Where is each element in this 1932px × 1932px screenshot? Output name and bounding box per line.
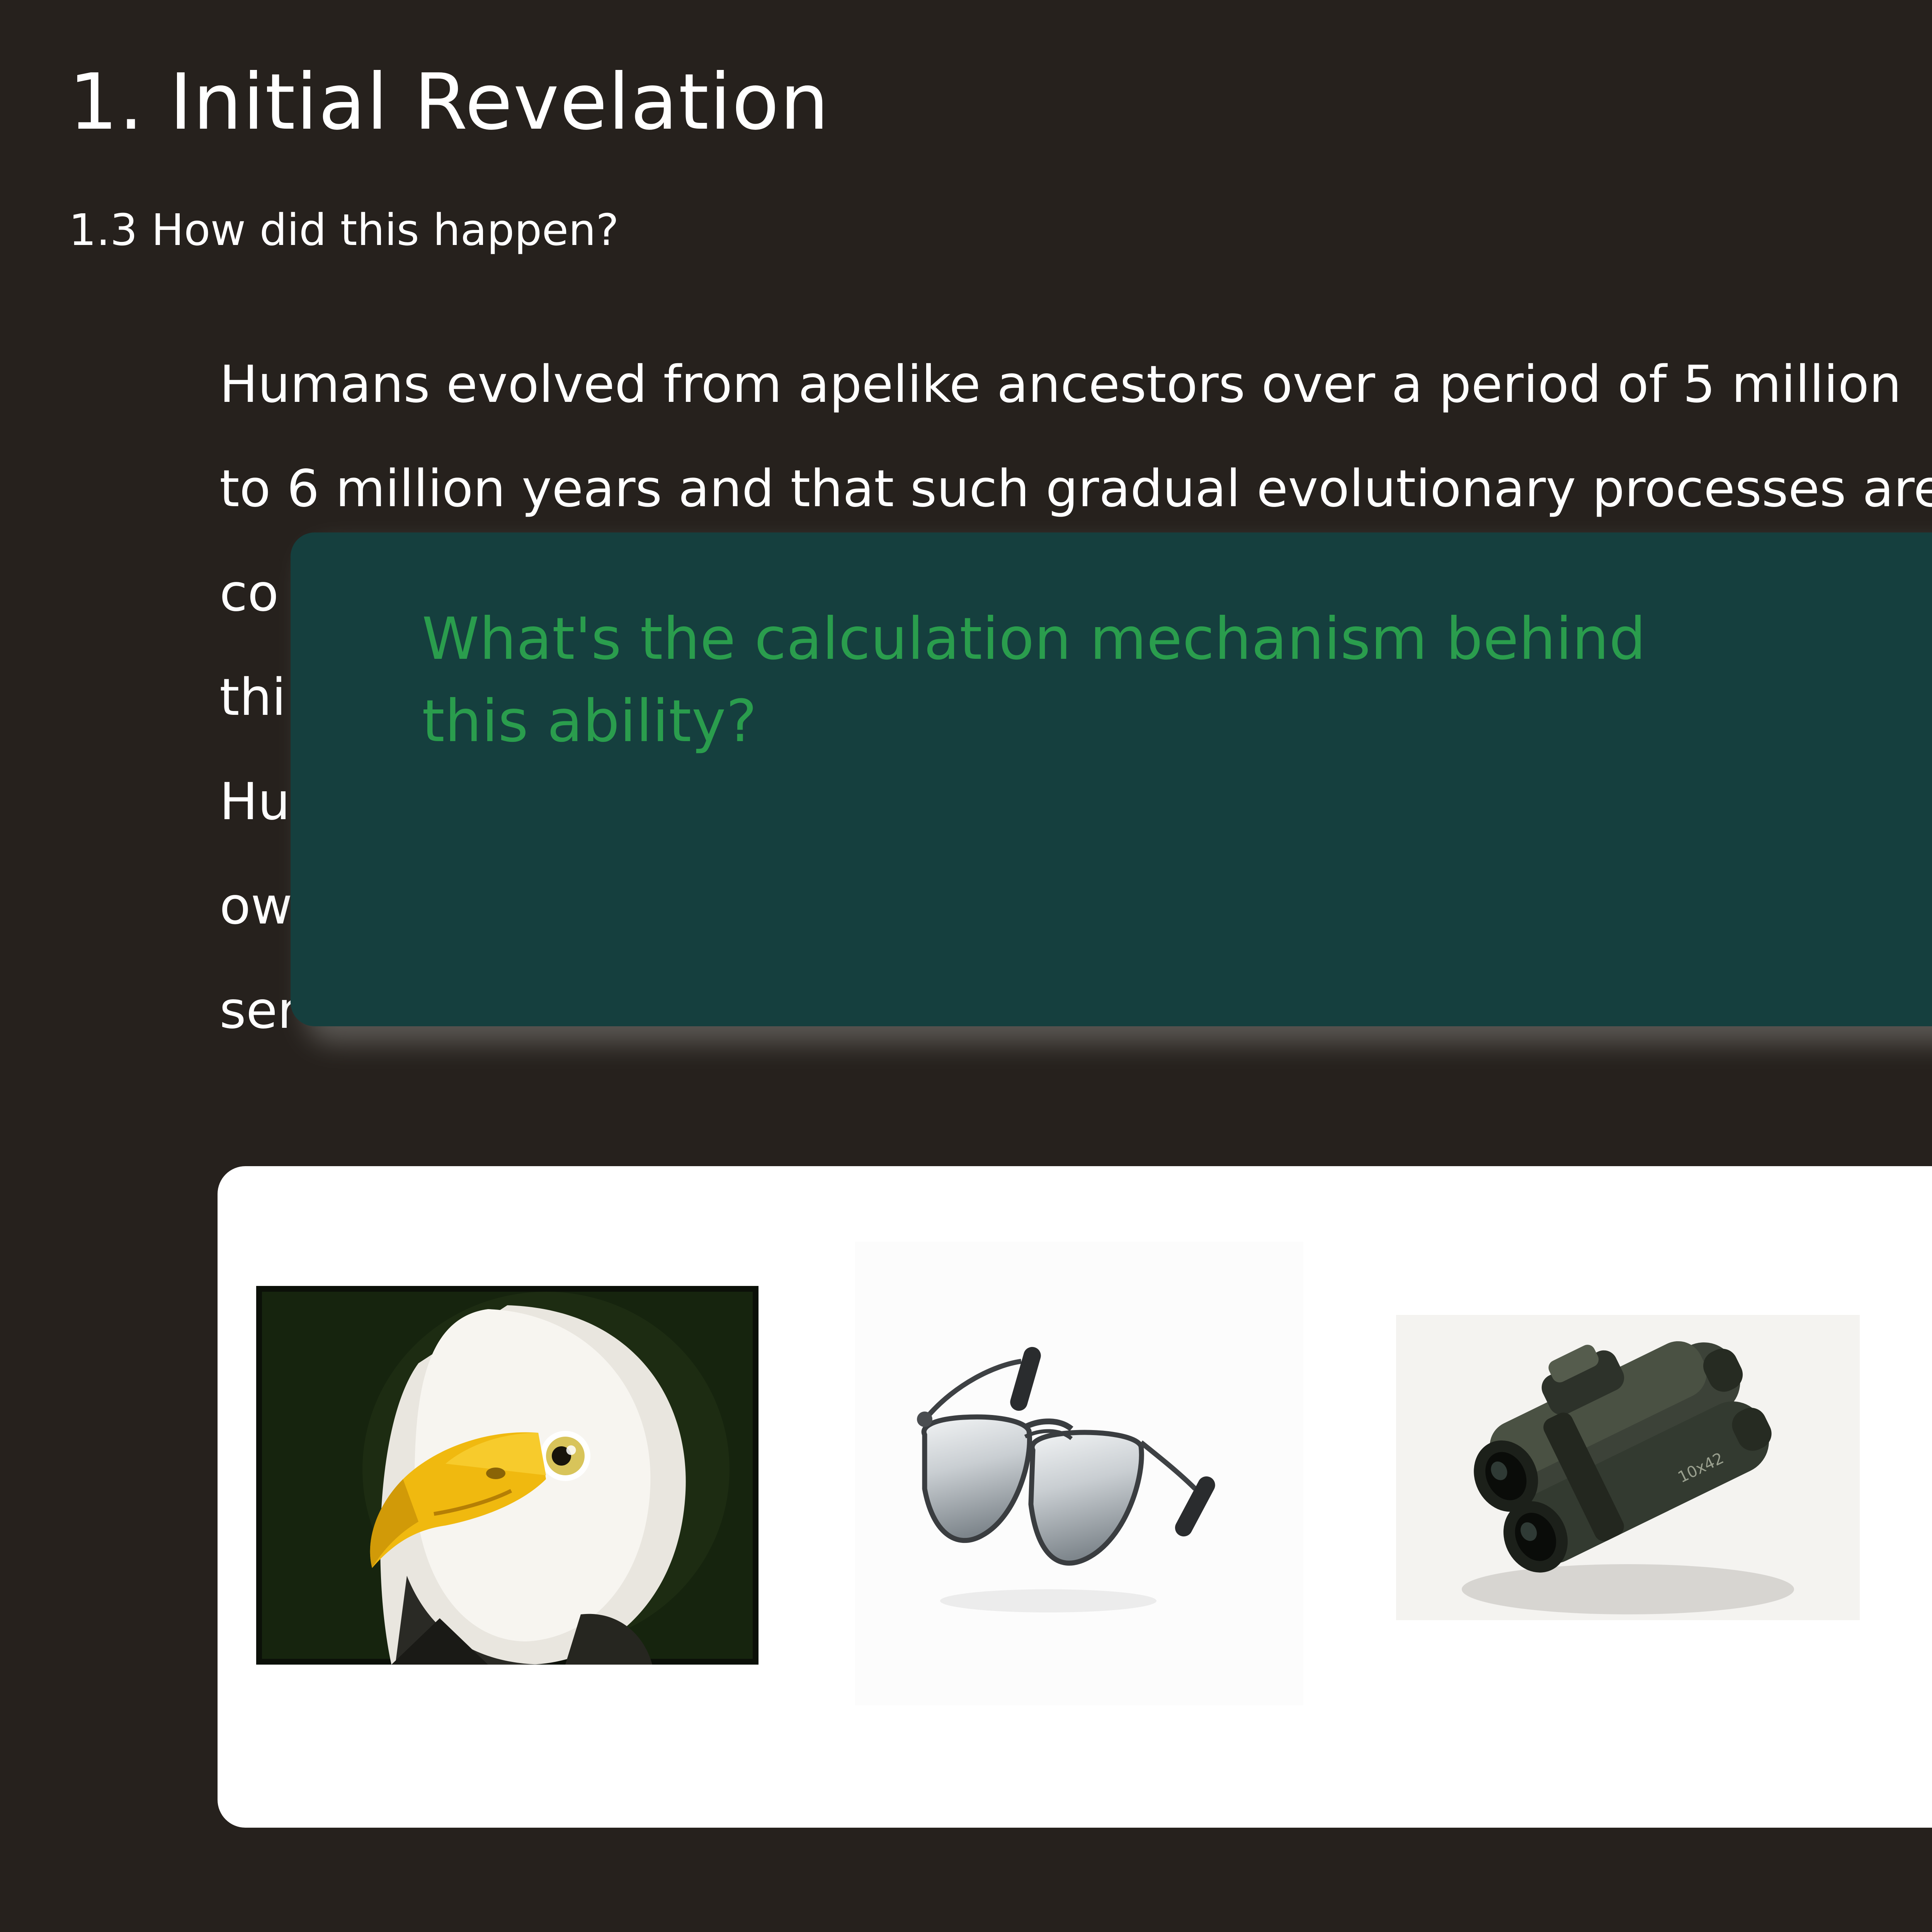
- callout-line-2: this ability?: [422, 680, 1932, 763]
- callout-text: What's the calculation mechanism behind …: [422, 598, 1932, 763]
- body-line-left: Hu: [219, 750, 290, 854]
- page-subtitle: 1.3 How did this happen?: [69, 209, 619, 252]
- callout-line-1: What's the calculation mechanism behind: [422, 598, 1932, 680]
- aviator-sunglasses-photo: [855, 1242, 1303, 1705]
- body-line-left: to 6 million years and that such gradual…: [219, 437, 1932, 541]
- body-line-left: co: [219, 541, 279, 645]
- body-line-left: ser: [219, 958, 298, 1063]
- bald-eagle-photo: [256, 1286, 759, 1665]
- body-line-left: ow: [219, 854, 293, 958]
- page-title: 1. Initial Revelation: [69, 64, 830, 141]
- body-line: to 6 million years and that such gradual…: [219, 437, 1932, 541]
- body-line: Humans evolved from apelike ancestors ov…: [219, 332, 1932, 437]
- callout-box: What's the calculation mechanism behind …: [291, 532, 1932, 1026]
- binoculars-photo: 10x42: [1396, 1315, 1860, 1620]
- body-line-left: thi: [219, 645, 286, 750]
- presentation-slide: 1. Initial Revelation 1.3 How did this h…: [0, 0, 1932, 1932]
- image-gallery-card: 10x42: [218, 1166, 1932, 1828]
- body-line-left: Humans evolved from apelike ancestors ov…: [219, 332, 1901, 437]
